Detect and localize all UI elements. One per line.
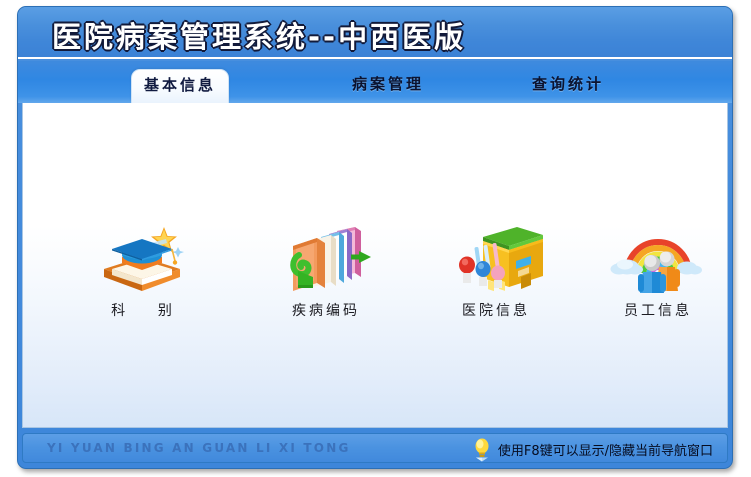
shortcut-label: 员工信息 [583,300,728,320]
status-pinyin-text: YI YUAN BING AN GUAN LI XI TONG [47,441,351,455]
shortcut-disease-code[interactable]: 疾病编码 [251,221,401,320]
shortcut-staff-info[interactable]: 员工信息 [583,221,728,320]
tab-basic-info[interactable]: 基本信息 [131,69,229,103]
shortcut-label: 疾病编码 [251,300,401,320]
tab-record-management[interactable]: 病案管理 [338,69,438,103]
status-hint-text: 使用F8键可以显示/隐藏当前导航窗口 [498,440,713,459]
status-bar: YI YUAN BING AN GUAN LI XI TONG 使用F8键可以显… [22,433,728,463]
shortcut-label: 科 别 [68,300,218,320]
book-stack-icon [251,221,401,295]
tab-strip: 基本信息 病案管理 查询统计 [18,61,732,103]
rainbow-people-icon [583,221,728,295]
application-window: 医院病案管理系统--中西医版 基本信息 病案管理 查询统计 [0,0,751,477]
lightbulb-icon [472,436,492,462]
tab-query-statistics[interactable]: 查询统计 [518,69,618,103]
shortcut-label: 医院信息 [421,300,571,320]
shortcut-department[interactable]: 科 别 [68,221,218,320]
title-bar: 医院病案管理系统--中西医版 [18,7,732,59]
shortcut-icon-row: 科 别 [23,221,727,341]
page-title: 医院病案管理系统--中西医版 [52,14,466,56]
graduation-cap-book-icon [68,221,218,295]
shortcut-hospital-info[interactable]: 医院信息 [421,221,571,320]
window-frame: 医院病案管理系统--中西医版 基本信息 病案管理 查询统计 [17,6,733,469]
status-hint-group: 使用F8键可以显示/隐藏当前导航窗口 [472,435,713,463]
content-panel: 科 别 [22,103,728,428]
hospital-building-icon [421,221,571,295]
